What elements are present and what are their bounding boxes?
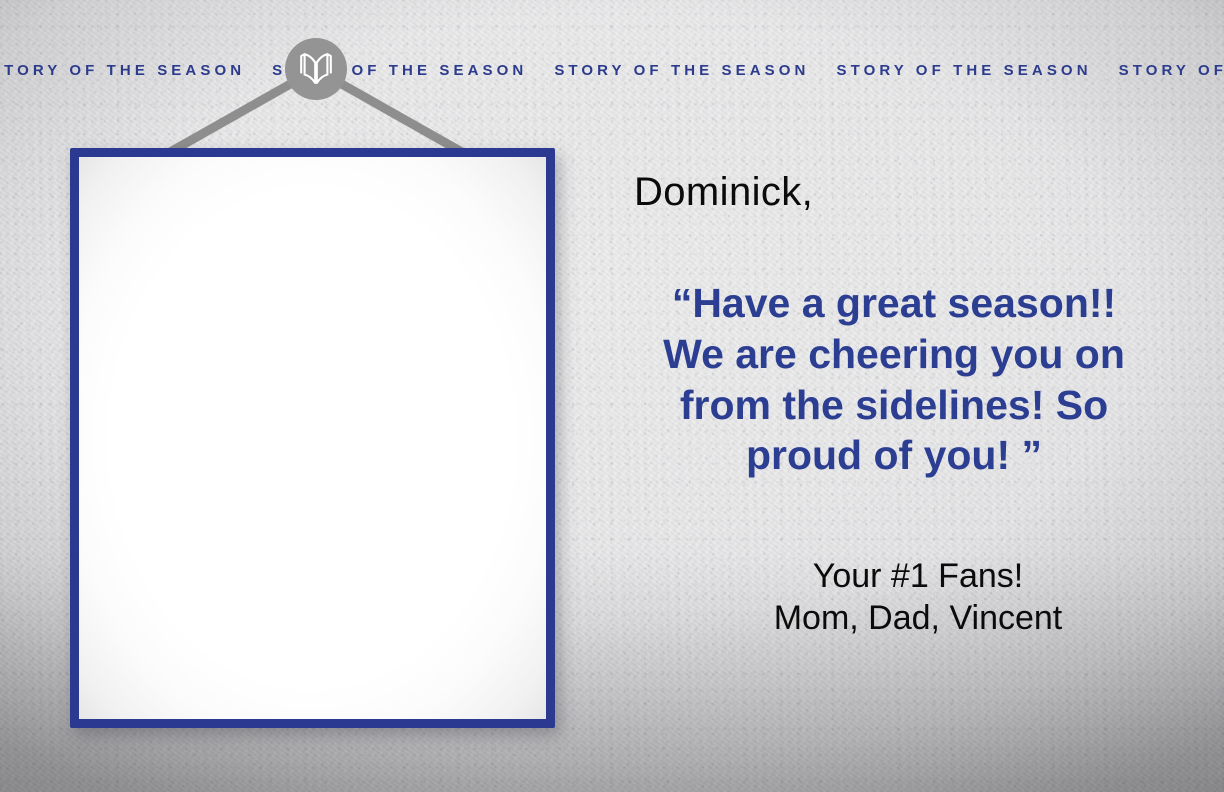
frame-inner: [79, 157, 546, 719]
signature-text: Your #1 Fans!Mom, Dad, Vincent: [596, 556, 1192, 639]
picture-frame[interactable]: [70, 148, 555, 728]
card-canvas: STORY OF THE SEASONSTORY OF THE SEASONST…: [0, 0, 1224, 792]
signature-line: Mom, Dad, Vincent: [644, 598, 1192, 639]
photo-placeholder: [79, 157, 546, 719]
banner-strip: STORY OF THE SEASONSTORY OF THE SEASONST…: [0, 55, 1224, 85]
quote-line: We are cheering you on: [622, 329, 1166, 380]
banner-phrase: STORY OF THE SEASON: [0, 62, 272, 79]
greeting-text: Dominick,: [634, 170, 1192, 214]
banner-phrase: STORY OF THE SEASON: [836, 62, 1118, 79]
quote-line: “Have a great season!!: [622, 278, 1166, 329]
message-block: Dominick, “Have a great season!!We are c…: [596, 170, 1192, 639]
quote-line: proud of you! ”: [622, 430, 1166, 481]
signature-line: Your #1 Fans!: [644, 556, 1192, 597]
banner-phrase: STORY OF THE SEASON: [1119, 62, 1224, 79]
banner-phrase: STORY OF THE SEASON: [554, 62, 836, 79]
open-book-icon: [296, 52, 336, 86]
quote-line: from the sidelines! So: [622, 380, 1166, 431]
hook-medallion: [285, 38, 347, 100]
quote-text: “Have a great season!!We are cheering yo…: [596, 278, 1192, 481]
